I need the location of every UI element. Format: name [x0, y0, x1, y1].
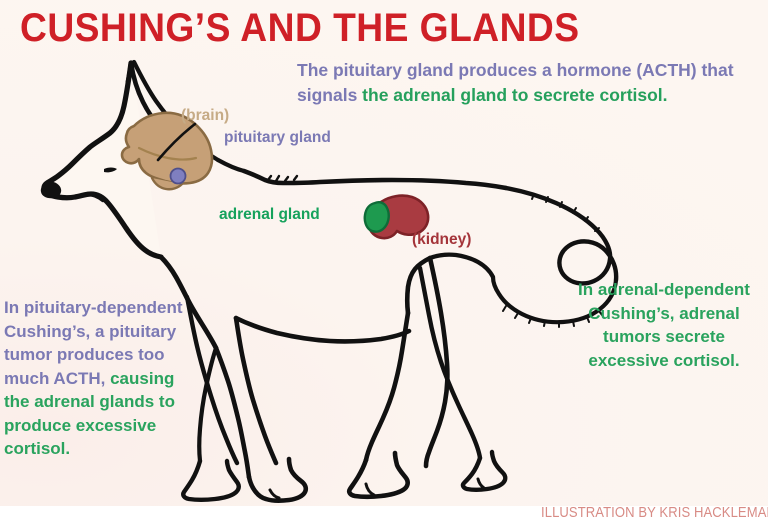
- infographic-poster: CUSHING’S AND THE GLANDS: [0, 0, 768, 530]
- adrenal-gland-label: adrenal gland: [219, 206, 320, 224]
- brain-label: (brain): [181, 107, 229, 125]
- kidney-label: (kidney): [412, 231, 471, 249]
- illustration-credit: ILLUSTRATION BY KRIS HACKLEMAN: [541, 505, 768, 521]
- top-note-highlight: the adrenal gland to secrete cortisol.: [362, 85, 667, 105]
- left-note: In pituitary-dependent Cushing’s, a pitu…: [4, 296, 190, 461]
- page-title: CUSHING’S AND THE GLANDS: [20, 6, 578, 50]
- pituitary-gland-label: pituitary gland: [224, 129, 331, 147]
- right-note: In adrenal-dependent Cushing’s, adrenal …: [568, 278, 760, 372]
- top-note: The pituitary gland produces a hormone (…: [297, 58, 763, 108]
